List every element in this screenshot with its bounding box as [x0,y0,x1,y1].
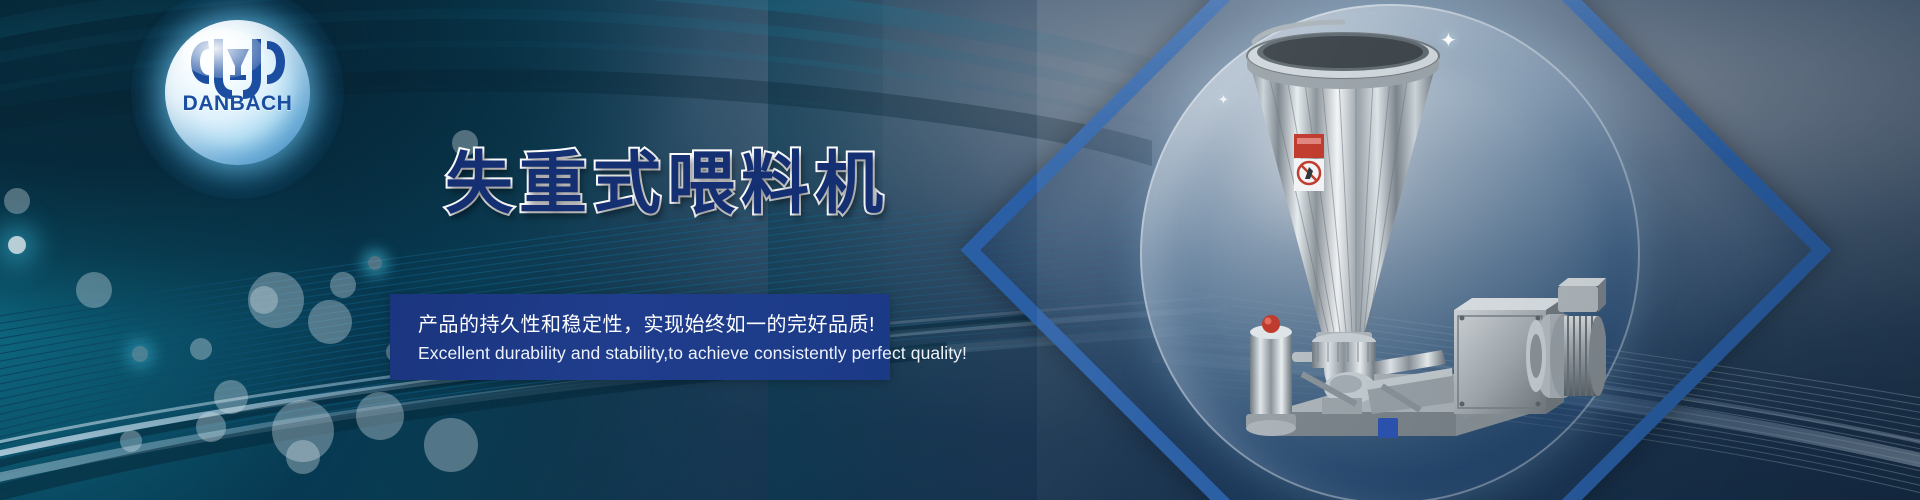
warning-label-red [1294,134,1324,158]
bokeh-circle [8,236,26,254]
bokeh-circle [214,380,248,414]
bokeh-circle [308,300,352,344]
product-showcase: ✦ ✦ ✦ [1088,0,1704,500]
bokeh-circle [190,338,212,360]
tagline-box: 产品的持久性和稳定性，实现始终如一的完好品质! Excellent durabi… [390,294,890,380]
drive-motor [1526,278,1606,398]
bokeh-circle [4,188,30,214]
tagline-english: Excellent durability and stability,to ac… [418,343,967,364]
logo-sphere: DANBACH [165,20,310,165]
brand-wordmark: DANBACH [165,92,310,116]
tagline-chinese: 产品的持久性和稳定性，实现始终如一的完好品质! [418,308,875,337]
bokeh-circle [250,286,278,314]
bokeh-circle [424,418,478,472]
bokeh-circle [132,346,148,362]
bokeh-circle [120,430,142,452]
product-banner: DANBACH 失重式喂料机 产品的持久性和稳定性，实现始终如一的完好品质! E… [0,0,1920,500]
loss-in-weight-feeder-image [1206,16,1606,468]
bokeh-circle [76,272,112,308]
bokeh-circle [286,440,320,474]
page-title: 失重式喂料机 [445,128,889,227]
brand-logo[interactable]: DANBACH [165,20,310,165]
conical-hopper [1247,22,1439,334]
bokeh-circle [356,392,404,440]
bokeh-circle [368,256,382,270]
bokeh-circle [196,412,226,442]
bokeh-circle [330,272,356,298]
